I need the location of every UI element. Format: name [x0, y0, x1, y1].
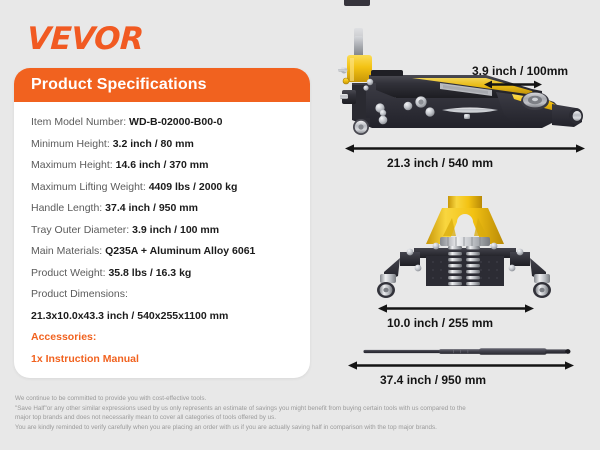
- vevor-logo: VEVOR: [26, 21, 144, 57]
- spec-label: Main Materials:: [31, 245, 102, 257]
- spec-label: Maximum Height:: [31, 159, 113, 171]
- disclaimer-text: We continue to be committed to provide y…: [15, 394, 590, 432]
- handle-bar-image: [352, 347, 582, 356]
- width-dimension-label: 10.0 inch / 255 mm: [387, 316, 493, 330]
- accessories-label: Accessories:: [31, 327, 299, 349]
- length-dimension-arrow: [345, 144, 585, 153]
- accessories-item: 1x Instruction Manual: [31, 349, 299, 371]
- width-dimension-arrow: [378, 304, 534, 313]
- tray-dimension-arrow: [484, 80, 542, 89]
- spec-row-dimensions-label: Product Dimensions:: [31, 284, 299, 306]
- jack-side-view-image: [336, 28, 594, 146]
- spec-value: 4409 lbs / 2000 kg: [149, 181, 238, 193]
- disclaimer-line: "Save Half"or any other similar expressi…: [15, 404, 590, 414]
- figure-jack-side-view: 3.9 inch / 100mm 21.3 inch / 540 mm: [336, 28, 594, 158]
- spec-row: Tray Outer Diameter: 3.9 inch / 100 mm: [31, 220, 299, 242]
- spec-value: 14.6 inch / 370 mm: [116, 159, 209, 171]
- spec-label: Item Model Number:: [31, 116, 126, 128]
- spec-label: Maximum Lifting Weight:: [31, 181, 146, 193]
- product-spec-page: VEVOR Product Specifications Item Model …: [0, 0, 600, 450]
- spec-row-dimensions-value: 21.3x10.0x43.3 inch / 540x255x1100 mm: [31, 306, 299, 328]
- card-header-title: Product Specifications: [31, 76, 207, 94]
- handle-length-label: 37.4 inch / 950 mm: [380, 373, 486, 387]
- spec-value: Q235A + Aluminum Alloy 6061: [105, 245, 255, 257]
- spec-label: Minimum Height:: [31, 138, 110, 150]
- product-specifications-card: Product Specifications Item Model Number…: [14, 68, 310, 378]
- disclaimer-line: We continue to be committed to provide y…: [15, 394, 590, 404]
- cropped-image-artifact: [344, 0, 370, 6]
- jack-front-view-image: [370, 196, 560, 304]
- spec-row: Handle Length: 37.4 inch / 950 mm: [31, 198, 299, 220]
- spec-row: Minimum Height: 3.2 inch / 80 mm: [31, 134, 299, 156]
- spec-value: 3.9 inch / 100 mm: [132, 224, 219, 236]
- spec-label: Product Weight:: [31, 267, 106, 279]
- spec-label: Handle Length:: [31, 202, 102, 214]
- spec-value: 35.8 lbs / 16.3 kg: [108, 267, 191, 279]
- spec-row: Main Materials: Q235A + Aluminum Alloy 6…: [31, 241, 299, 263]
- disclaimer-line: major top brands and does not necessaril…: [15, 413, 590, 423]
- figure-jack-front-view: 10.0 inch / 255 mm: [370, 196, 560, 311]
- spec-value: WD-B-02000-B00-0: [129, 116, 222, 128]
- spec-value: 37.4 inch / 950 mm: [105, 202, 198, 214]
- spec-label: Product Dimensions:: [31, 288, 128, 300]
- spec-row: Maximum Height: 14.6 inch / 370 mm: [31, 155, 299, 177]
- card-header: Product Specifications: [14, 68, 310, 102]
- tray-dimension-label: 3.9 inch / 100mm: [472, 64, 568, 78]
- specifications-list: Item Model Number: WD-B-02000-B00-0 Mini…: [31, 112, 299, 370]
- spec-row: Item Model Number: WD-B-02000-B00-0: [31, 112, 299, 134]
- spec-row: Product Weight: 35.8 lbs / 16.3 kg: [31, 263, 299, 285]
- disclaimer-line: You are kindly reminded to verify carefu…: [15, 423, 590, 433]
- spec-label: Tray Outer Diameter:: [31, 224, 129, 236]
- spec-row: Maximum Lifting Weight: 4409 lbs / 2000 …: [31, 177, 299, 199]
- handle-length-arrow: [348, 361, 574, 370]
- length-dimension-label: 21.3 inch / 540 mm: [387, 156, 493, 170]
- figure-handle-bar: 37.4 inch / 950 mm: [352, 344, 582, 362]
- spec-value: 3.2 inch / 80 mm: [113, 138, 194, 150]
